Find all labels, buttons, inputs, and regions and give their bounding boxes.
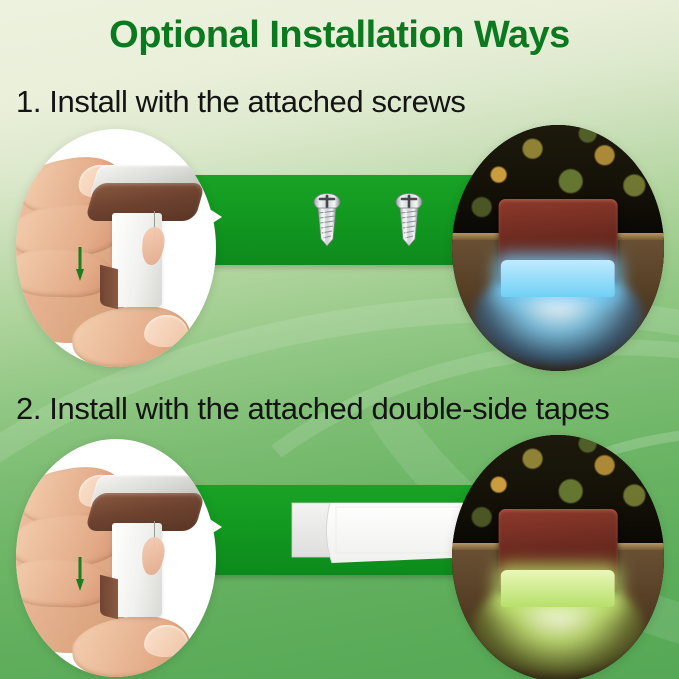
night-scene: [452, 435, 664, 679]
step-2-hand-photo: [16, 439, 216, 677]
screw-icon: [392, 191, 426, 249]
hand-illustration: [16, 439, 216, 677]
step-1-installed-photo: [452, 125, 664, 371]
page-title: Optional Installation Ways: [0, 14, 679, 57]
arrow-down-icon: [76, 247, 84, 281]
step-2-label: 2. Install with the attached double-side…: [16, 391, 609, 427]
step-1-row: [0, 133, 679, 363]
screw-icon: [310, 191, 344, 249]
light-lens-green: [501, 570, 615, 607]
light-lens-blue: [501, 260, 615, 297]
arrow-down-icon: [76, 557, 84, 591]
deck-light-product: [90, 475, 204, 615]
deck-light-product: [90, 165, 204, 305]
screws-group: [310, 191, 460, 253]
step-1-hand-photo: [16, 129, 216, 367]
step-1-label: 1. Install with the attached screws: [16, 84, 466, 120]
night-scene: [452, 125, 664, 371]
hand-illustration: [16, 129, 216, 367]
step-2-installed-photo: [452, 435, 664, 679]
step-2-row: [0, 443, 679, 673]
installation-infographic: Optional Installation Ways 1. Install wi…: [0, 0, 679, 679]
